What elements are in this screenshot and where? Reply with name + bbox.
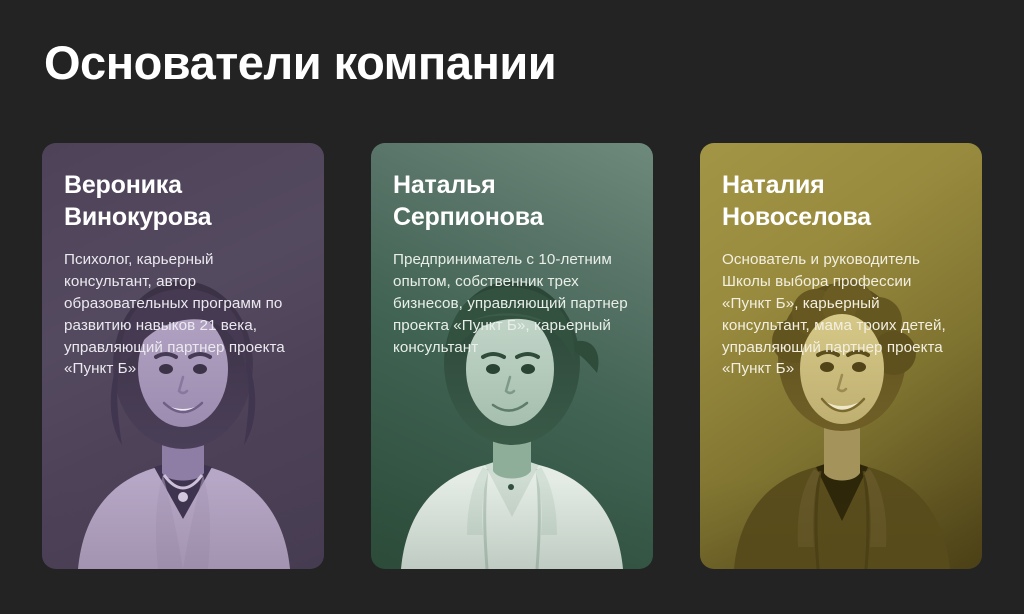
founder-name: Наталья Серпионова [393,170,631,233]
founder-card[interactable]: Вероника Винокурова Психолог, карьерный … [42,143,324,569]
slide-root: Основатели компании [0,0,1024,614]
founder-name: Наталия Новоселова [722,170,960,233]
founder-card[interactable]: Наталья Серпионова Предприниматель с 10-… [371,143,653,569]
founder-bio: Основатель и руководитель Школы выбора п… [722,249,960,380]
founders-card-list: Вероника Винокурова Психолог, карьерный … [42,143,982,569]
founder-card-content: Наталия Новоселова Основатель и руководи… [700,143,982,380]
founder-name: Вероника Винокурова [64,170,302,233]
founder-bio: Психолог, карьерный консультант, автор о… [64,249,302,380]
page-title: Основатели компании [44,37,556,90]
founder-card-content: Наталья Серпионова Предприниматель с 10-… [371,143,653,358]
founder-bio: Предприниматель с 10-летним опытом, собс… [393,249,631,358]
founder-card[interactable]: Наталия Новоселова Основатель и руководи… [700,143,982,569]
founder-card-content: Вероника Винокурова Психолог, карьерный … [42,143,324,380]
